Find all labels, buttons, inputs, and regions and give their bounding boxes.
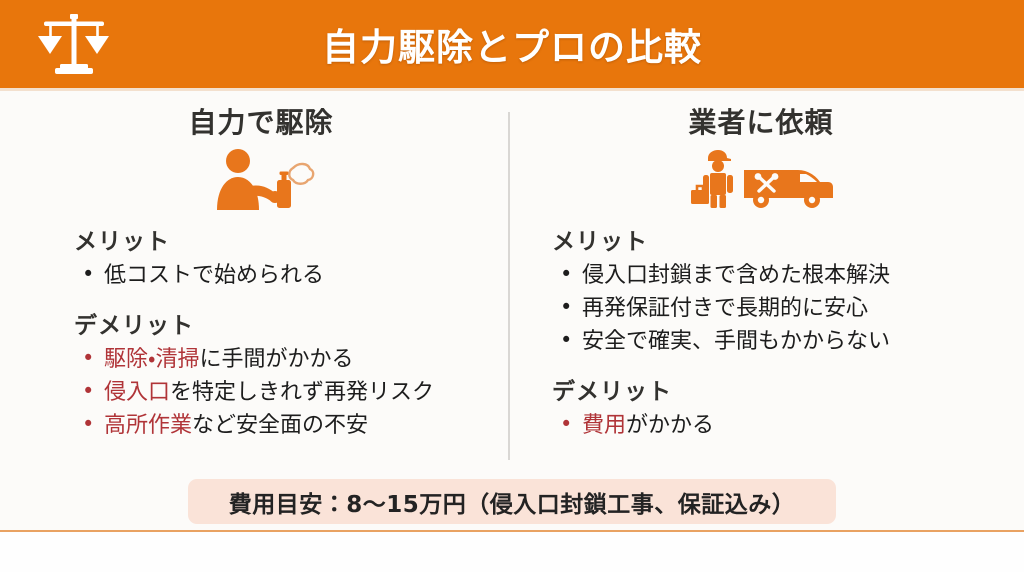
group-demerits-diy: デメリット 駆除・清掃に手間がかかる 侵入口を特定しきれず再発リスク 高所作業な… (74, 306, 496, 442)
page-title: 自力駆除とプロの比較 (0, 0, 1024, 88)
column-title-diy: 自力で駆除 (26, 104, 496, 142)
page-header: 自力駆除とプロの比較 (0, 0, 1024, 88)
bottom-strip (0, 532, 1024, 572)
list-item: 駆除・清掃に手間がかかる (74, 343, 496, 376)
column-title-pro: 業者に依頼 (522, 104, 1000, 142)
lists-diy: メリット 低コストで始められる デメリット 駆除・清掃に手間がかかる 侵入口を特… (26, 222, 496, 442)
group-merits-diy: メリット 低コストで始められる (74, 222, 496, 292)
comparison-column-pro: 業者に依頼 (522, 104, 1000, 442)
item-text: 低コストで始められる (104, 263, 324, 288)
group-demerits-pro: デメリット 費用がかかる (552, 372, 1000, 442)
item-text: がかかる (626, 413, 714, 438)
group-merits-pro: メリット 侵入口封鎖まで含めた根本解決 再発保証付きで長期的に安心 安全で確実、… (552, 222, 1000, 358)
list-item: 侵入口を特定しきれず再発リスク (74, 376, 496, 409)
list-item: 低コストで始められる (74, 259, 496, 292)
item-keyword: 侵入口 (104, 380, 170, 405)
item-text: に手間がかかる (199, 347, 353, 372)
group-heading-merits-pro: メリット (552, 222, 1000, 256)
demerit-list-pro: 費用がかかる (552, 409, 1000, 442)
column-divider (508, 112, 510, 460)
item-text: 再発保証付きで長期的に安心 (582, 296, 868, 321)
lists-pro: メリット 侵入口封鎖まで含めた根本解決 再発保証付きで長期的に安心 安全で確実、… (522, 222, 1000, 442)
list-item: 侵入口封鎖まで含めた根本解決 (552, 259, 1000, 292)
item-text: 安全で確実、手間もかからない (582, 329, 890, 354)
list-item: 再発保証付きで長期的に安心 (552, 292, 1000, 325)
item-text: を特定しきれず再発リスク (170, 380, 434, 405)
item-text: など安全面の不安 (192, 413, 368, 438)
cost-estimate-text: 費用目安：8〜15万円（侵入口封鎖工事、保証込み） (229, 485, 796, 519)
header-underline (0, 88, 1024, 91)
demerit-list-diy: 駆除・清掃に手間がかかる 侵入口を特定しきれず再発リスク 高所作業など安全面の不… (74, 343, 496, 442)
group-heading-demerits-pro: デメリット (552, 372, 1000, 406)
list-item: 安全で確実、手間もかからない (552, 325, 1000, 358)
person-spraying-icon (26, 148, 496, 210)
group-heading-merits-diy: メリット (74, 222, 496, 256)
item-keyword: 高所作業 (104, 413, 192, 438)
comparison-column-diy: 自力で駆除 メリット (26, 104, 496, 442)
merit-list-diy: 低コストで始められる (74, 259, 496, 292)
list-item: 費用がかかる (552, 409, 1000, 442)
worker-and-van-icon (522, 148, 1000, 210)
item-text: 侵入口封鎖まで含めた根本解決 (582, 263, 890, 288)
item-keyword: 駆除・清掃 (104, 347, 199, 372)
cost-estimate-banner: 費用目安：8〜15万円（侵入口封鎖工事、保証込み） (188, 479, 836, 524)
merit-list-pro: 侵入口封鎖まで含めた根本解決 再発保証付きで長期的に安心 安全で確実、手間もかか… (552, 259, 1000, 358)
group-heading-demerits-diy: デメリット (74, 306, 496, 340)
item-keyword: 費用 (582, 413, 626, 438)
list-item: 高所作業など安全面の不安 (74, 409, 496, 442)
